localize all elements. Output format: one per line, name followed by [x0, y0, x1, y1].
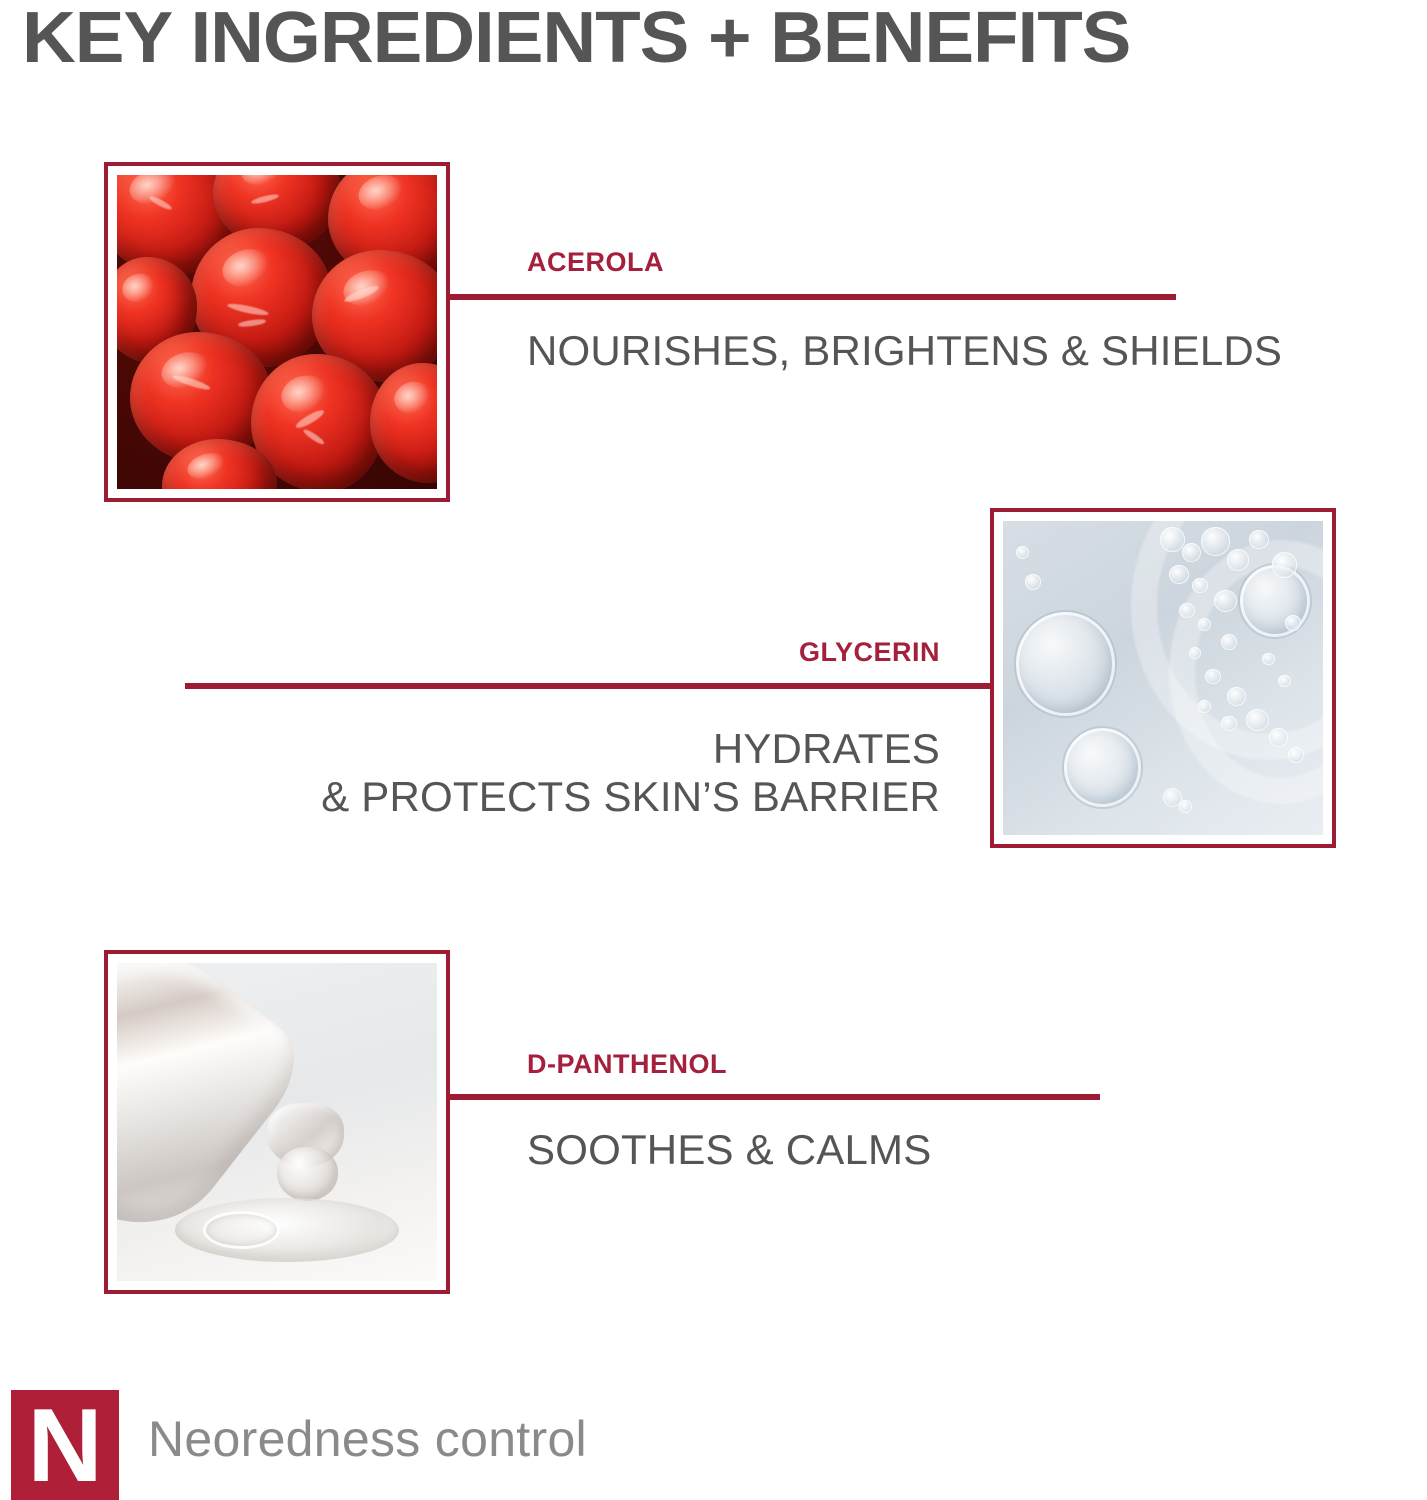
brand-name: Neoredness control [148, 1409, 587, 1469]
glycerin-image-frame [990, 508, 1336, 848]
ingredient-name-acerola: ACEROLA [527, 246, 664, 278]
ingredients-benefits-infographic: KEY INGREDIENTS + BENEFITS ACEROLA NOURI… [0, 0, 1427, 1500]
glycerin-bubbles-photo [1003, 521, 1323, 835]
acerola-connector-rule [450, 294, 1176, 300]
acerola-image-frame [104, 162, 450, 502]
d-panthenol-image-frame [104, 950, 450, 1294]
ingredient-benefit-d-panthenol-line-1: SOOTHES & CALMS [527, 1124, 931, 1176]
serum-droplet-shape [277, 1147, 338, 1201]
dropper-serum-photo [117, 963, 437, 1281]
glycerin-connector-rule [185, 683, 990, 689]
brand-logo-mark: N [11, 1390, 119, 1500]
page-title: KEY INGREDIENTS + BENEFITS [22, 0, 1427, 80]
ingredient-name-d-panthenol: D-PANTHENOL [527, 1048, 727, 1080]
ingredient-name-glycerin: GLYCERIN [185, 636, 940, 668]
d-panthenol-connector-rule [450, 1094, 1100, 1100]
ingredient-benefit-acerola-line-1: NOURISHES, BRIGHTENS & SHIELDS [527, 325, 1282, 377]
serum-puddle-ring-shape [203, 1211, 280, 1249]
acerola-cherries-photo [117, 175, 437, 489]
ingredient-benefit-glycerin-line-1: HYDRATES [185, 723, 940, 775]
ingredient-benefit-glycerin-line-2: & PROTECTS SKIN’S BARRIER [185, 771, 940, 823]
